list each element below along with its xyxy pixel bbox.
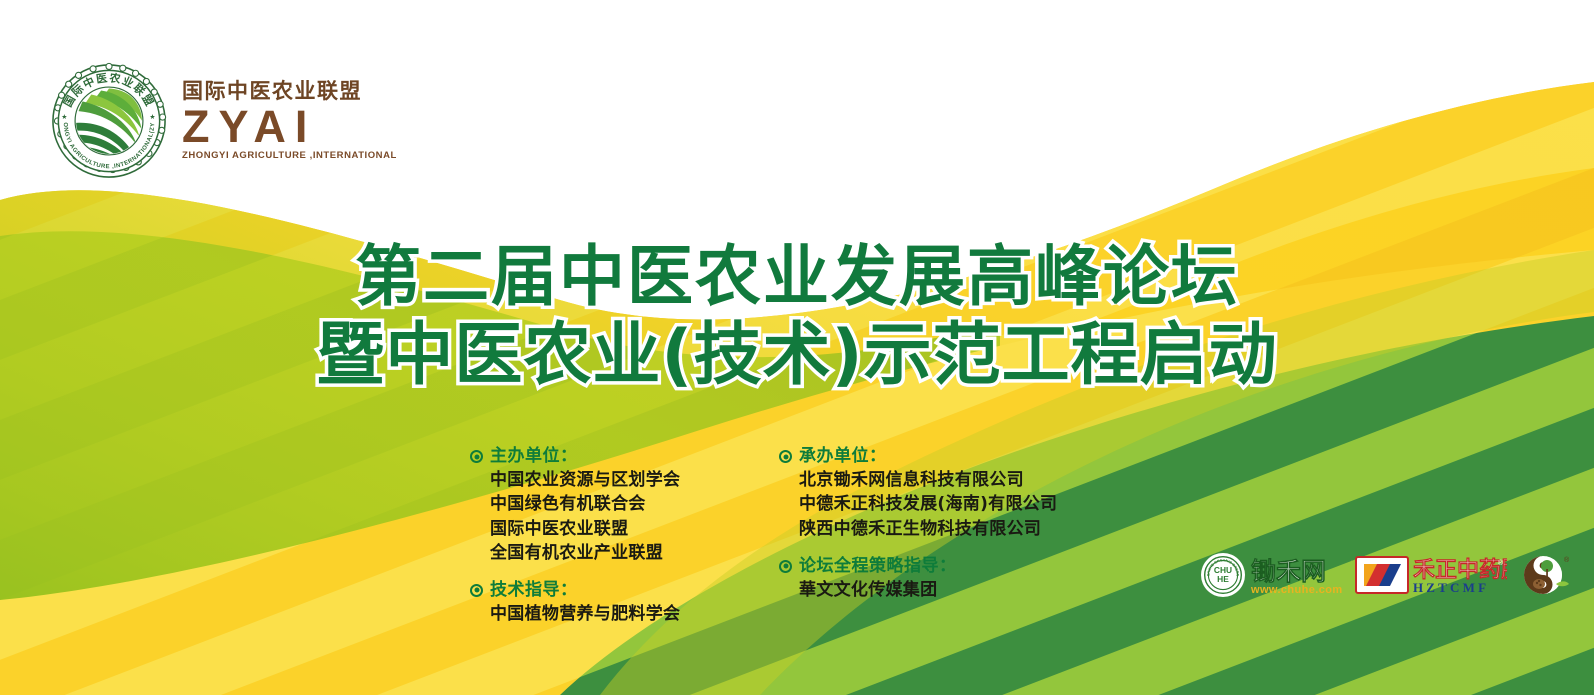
- info-column-right: 承办单位： 北京锄禾网信息科技有限公司 中德禾正科技发展(海南)有限公司 陕西中…: [779, 446, 1064, 626]
- svg-text:HZTCMF: HZTCMF: [1413, 580, 1489, 595]
- emblem-star-right: ★: [149, 114, 155, 121]
- svg-text:HE: HE: [1217, 574, 1229, 584]
- list-item: 中国绿色有机联合会: [490, 492, 755, 516]
- info-heading-text: 承办单位：: [799, 446, 887, 467]
- zyai-circular-emblem: 国际中医农业联盟 ZHONGYI AGRICULTURE ,INTERNATIO…: [50, 62, 168, 180]
- list-item: 中国植物营养与肥料学会: [490, 602, 755, 626]
- sponsor-chuhe: CHU HE CHUHE ORGANIC GREEN 锄禾网 www.chuhe…: [1200, 551, 1342, 599]
- list-item: 華文文化传媒集团: [799, 578, 1064, 602]
- organizer-info: 主办单位： 中国农业资源与区划学会 中国绿色有机联合会 国际中医农业联盟 全国有…: [470, 446, 1064, 626]
- list-item: 中德禾正科技发展(海南)有限公司: [799, 492, 1064, 516]
- zyai-logo-block: 国际中医农业联盟 ZHONGYI AGRICULTURE ,INTERNATIO…: [50, 62, 397, 180]
- hztcmf-z-mark-icon: [1356, 557, 1408, 593]
- sponsor-logo-row: CHU HE CHUHE ORGANIC GREEN 锄禾网 www.chuhe…: [1200, 551, 1572, 599]
- info-heading-text: 技术指导：: [490, 580, 578, 601]
- svg-text:®: ®: [1564, 556, 1570, 564]
- svg-text:www.chuhe.com: www.chuhe.com: [1250, 584, 1342, 596]
- sponsor-taiji-tree: ®: [1520, 551, 1572, 599]
- info-heading-organizer: 承办单位：: [779, 446, 1064, 467]
- info-items-technical-guidance: 中国植物营养与肥料学会: [490, 602, 755, 626]
- zyai-wordmark: 国际中医农业联盟 ZYAI ZHONGYI AGRICULTURE ,INTER…: [182, 81, 397, 160]
- info-group-host: 主办单位： 中国农业资源与区划学会 中国绿色有机联合会 国际中医农业联盟 全国有…: [470, 446, 755, 565]
- taiji-tree-circle-icon: ®: [1524, 556, 1570, 594]
- info-heading-text: 论坛全程策略指导：: [799, 556, 957, 577]
- list-item: 陕西中德禾正生物科技有限公司: [799, 517, 1064, 541]
- bullet-icon: [779, 560, 792, 573]
- chuhe-circle-icon: CHU HE CHUHE ORGANIC GREEN: [1201, 553, 1245, 597]
- info-group-organizer: 承办单位： 北京锄禾网信息科技有限公司 中德禾正科技发展(海南)有限公司 陕西中…: [779, 446, 1064, 541]
- svg-text:锄禾网: 锄禾网: [1251, 557, 1326, 586]
- list-item: 中国农业资源与区划学会: [490, 468, 755, 492]
- info-group-technical-guidance: 技术指导： 中国植物营养与肥料学会: [470, 580, 755, 626]
- list-item: 全国有机农业产业联盟: [490, 541, 755, 565]
- list-item: 国际中医农业联盟: [490, 517, 755, 541]
- info-heading-host: 主办单位：: [470, 446, 755, 467]
- info-items-host: 中国农业资源与区划学会 中国绿色有机联合会 国际中医农业联盟 全国有机农业产业联…: [490, 468, 755, 565]
- emblem-star-left: ★: [61, 114, 67, 121]
- info-items-strategy-guidance: 華文文化传媒集团: [799, 578, 1064, 602]
- zyai-acronym: ZYAI: [182, 106, 397, 149]
- info-column-left: 主办单位： 中国农业资源与区划学会 中国绿色有机联合会 国际中医农业联盟 全国有…: [470, 446, 755, 626]
- info-heading-text: 主办单位：: [490, 446, 578, 467]
- chuhe-wordmark: 锄禾网 www.chuhe.com: [1250, 557, 1342, 596]
- zyai-english-name: ZHONGYI AGRICULTURE ,INTERNATIONAL: [182, 151, 397, 161]
- svg-text:®: ®: [1498, 559, 1504, 567]
- zyai-chinese-name: 国际中医农业联盟: [182, 81, 397, 102]
- sponsor-hezheng: 禾正中药肥 ® HZTCMF: [1355, 551, 1507, 599]
- bullet-icon: [470, 584, 483, 597]
- info-group-strategy-guidance: 论坛全程策略指导： 華文文化传媒集团: [779, 556, 1064, 602]
- bullet-icon: [779, 450, 792, 463]
- list-item: 北京锄禾网信息科技有限公司: [799, 468, 1064, 492]
- event-banner: 国际中医农业联盟 ZHONGYI AGRICULTURE ,INTERNATIO…: [0, 0, 1594, 695]
- info-heading-technical-guidance: 技术指导：: [470, 580, 755, 601]
- info-items-organizer: 北京锄禾网信息科技有限公司 中德禾正科技发展(海南)有限公司 陕西中德禾正生物科…: [799, 468, 1064, 540]
- bullet-icon: [470, 450, 483, 463]
- hezheng-wordmark: 禾正中药肥 ® HZTCMF: [1413, 558, 1507, 595]
- info-heading-strategy-guidance: 论坛全程策略指导：: [779, 556, 1064, 577]
